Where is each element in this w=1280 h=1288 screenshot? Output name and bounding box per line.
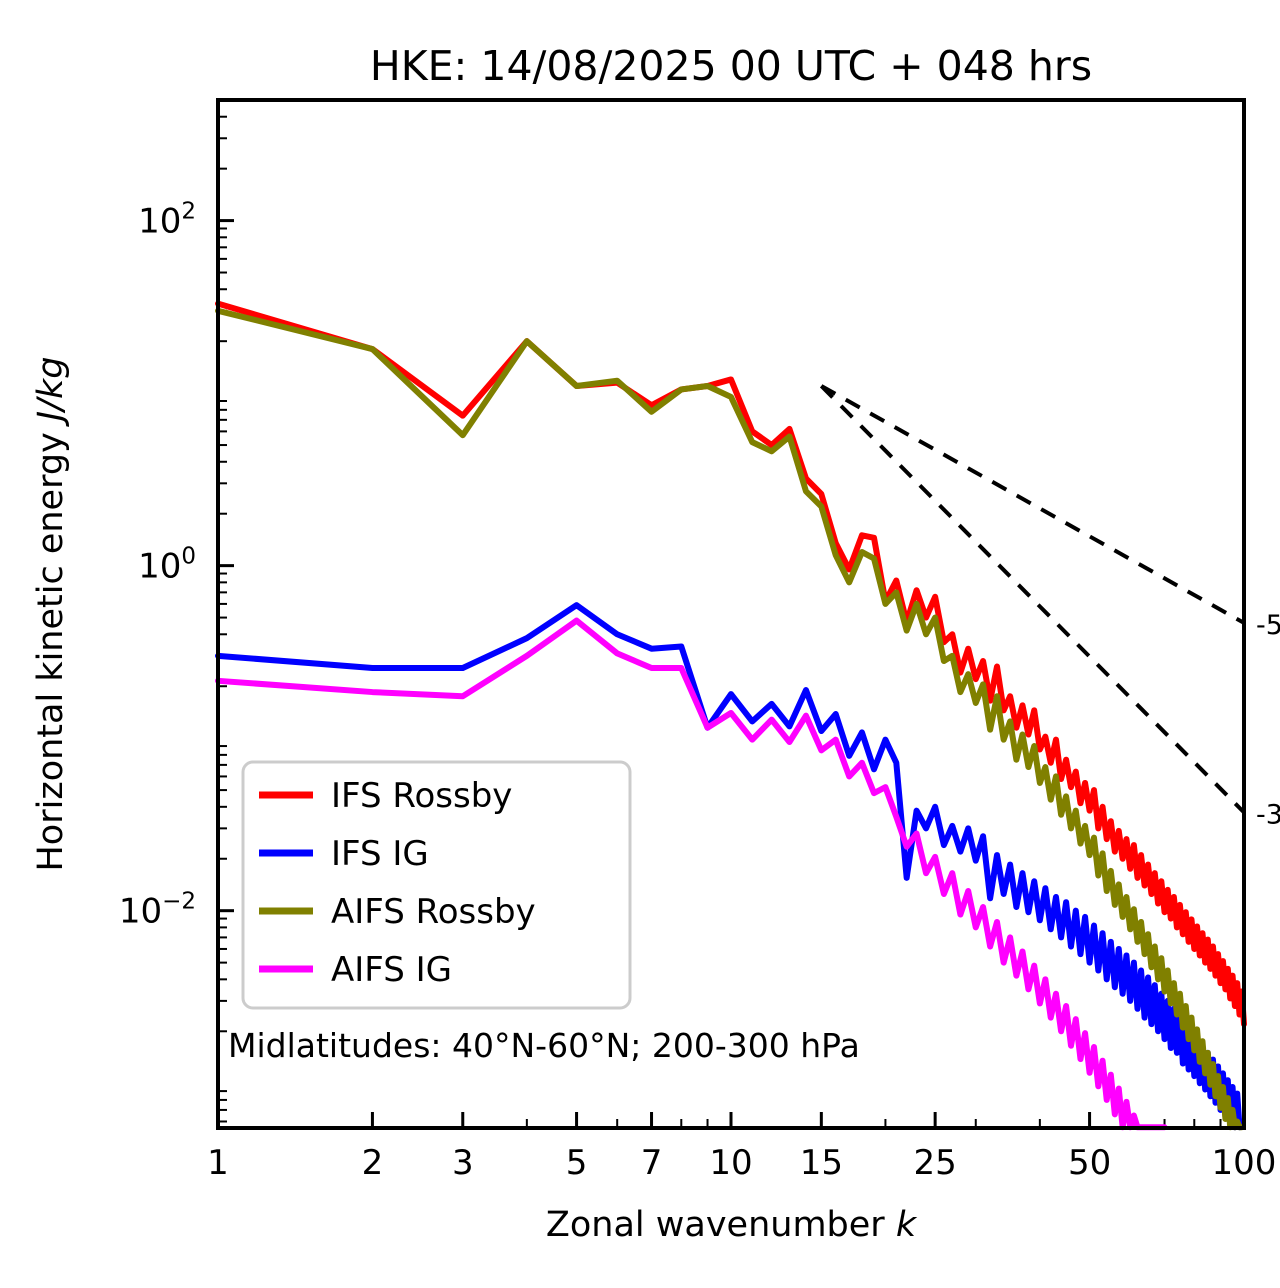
y-tick-exponent: −2 — [162, 889, 196, 915]
y-tick-mantissa: 10 — [138, 547, 181, 587]
x-tick-label: 100 — [1212, 1143, 1277, 1183]
x-axis-label-text: Zonal wavenumber — [546, 1205, 896, 1245]
y-tick-exponent: 2 — [181, 199, 196, 225]
y-tick-label: 10−2 — [119, 889, 196, 932]
page-title: HKE: 14/08/2025 00 UTC + 048 hrs — [370, 42, 1092, 90]
legend-label-3: AIFS IG — [331, 950, 452, 990]
x-axis-label: Zonal wavenumber k — [546, 1205, 918, 1245]
spectrum-chart: HKE: 14/08/2025 00 UTC + 048 hrs12357101… — [0, 0, 1280, 1288]
y-axis-label-text: Horizontal kinetic energy — [31, 421, 71, 871]
legend-label-2: AIFS Rossby — [331, 892, 536, 932]
legend-label-0: IFS Rossby — [331, 776, 512, 816]
y-axis-label: Horizontal kinetic energy J/kg — [31, 356, 71, 871]
legend-label-1: IFS IG — [331, 834, 429, 874]
x-tick-label: 2 — [362, 1143, 384, 1183]
x-tick-label: 10 — [709, 1143, 752, 1183]
y-tick-label: 100 — [138, 544, 196, 587]
y-tick-exponent: 0 — [181, 544, 196, 570]
y-tick-mantissa: 10 — [138, 202, 181, 242]
x-tick-label: 1 — [207, 1143, 229, 1183]
x-tick-label: 5 — [566, 1143, 588, 1183]
x-tick-label: 25 — [914, 1143, 957, 1183]
x-tick-label: 50 — [1068, 1143, 1111, 1183]
x-tick-label: 7 — [641, 1143, 663, 1183]
x-tick-label: 15 — [800, 1143, 843, 1183]
x-axis-label-symbol: k — [896, 1205, 918, 1245]
plot-annotation: Midlatitudes: 40°N-60°N; 200-300 hPa — [228, 1026, 860, 1065]
y-tick-label: 102 — [138, 199, 196, 242]
slope-label-3: -3 — [1256, 799, 1280, 830]
slope-label-5-3: -5/3 — [1256, 610, 1280, 641]
y-tick-mantissa: 10 — [119, 892, 162, 932]
y-axis-label-symbol: J/kg — [31, 356, 71, 427]
figure-root: HKE: 14/08/2025 00 UTC + 048 hrs12357101… — [0, 0, 1280, 1288]
x-tick-label: 3 — [452, 1143, 474, 1183]
